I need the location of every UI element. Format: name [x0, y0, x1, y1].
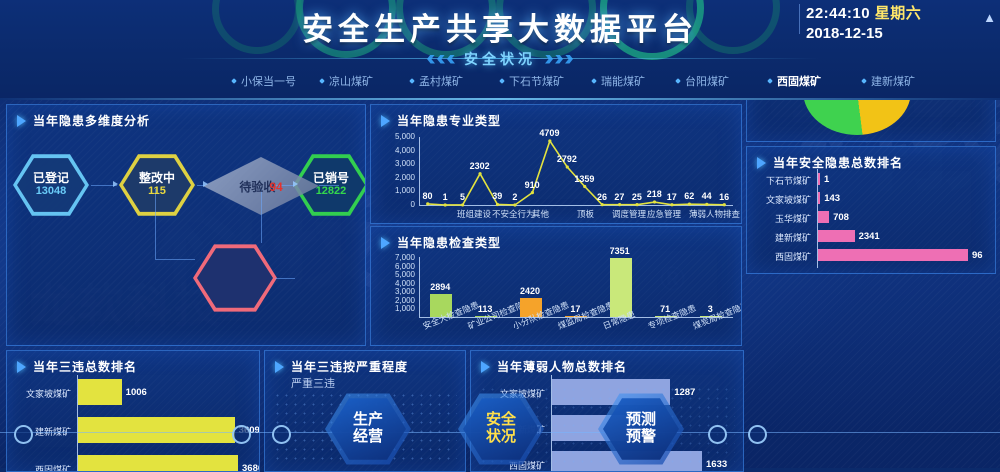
panel-hidden-danger-multidim: 当年隐患多维度分析 已登记13048整改中115已销号12822待验收94 [6, 104, 366, 346]
category-label: 西固煤矿 [7, 463, 71, 472]
flow-connector [261, 189, 262, 243]
tab-label: 西固煤矿 [777, 73, 821, 89]
y-axis-line [419, 257, 420, 317]
tab-5[interactable]: 台阳煤矿 [676, 73, 729, 89]
chevron-right-decor-icon [545, 55, 573, 64]
x-axis-category: 应急管理 [647, 208, 681, 220]
data-label: 62 [684, 191, 694, 201]
category-label: 玉华煤矿 [747, 212, 811, 225]
clock-weekday: 星期六 [875, 5, 922, 22]
data-label: 2894 [430, 282, 450, 292]
rail-node-dot[interactable] [748, 425, 767, 444]
y-axis-tick: 1,000 [373, 304, 415, 313]
overlay-node-safety-status[interactable]: 安全 状况 [458, 392, 544, 466]
clock-widget: 22:44:10 星期六 2018-12-15 [806, 2, 982, 44]
overlay-node-forecast-warning[interactable]: 预测 预警 [598, 392, 684, 466]
tab-bullet-icon [231, 78, 237, 84]
overlay-node-line2: 预警 [626, 429, 656, 446]
data-label: 27 [614, 192, 624, 202]
bar[interactable] [78, 455, 238, 472]
clock-date: 2018-12-15 [806, 25, 982, 42]
panel-title-row: 当年隐患检查类型 [381, 234, 501, 251]
tab-bullet-icon [499, 78, 505, 84]
flow-node-已登记[interactable]: 已登记13048 [13, 153, 89, 217]
data-label: 1359 [574, 174, 594, 184]
data-label: 7351 [610, 246, 630, 256]
tab-label: 台阳煤矿 [685, 73, 729, 89]
arrow-right-icon [381, 237, 390, 249]
flow-arrow-icon [293, 181, 298, 187]
x-axis-category: 班组建设 [457, 208, 491, 220]
flow-connector [275, 278, 295, 279]
panel-title: 当年隐患检查类型 [397, 234, 501, 251]
tab-0[interactable]: 小保当一号 [232, 73, 296, 89]
data-label: 17 [667, 192, 677, 202]
bar[interactable] [818, 173, 820, 185]
bar[interactable] [818, 249, 968, 261]
tab-2[interactable]: 孟村煤矿 [410, 73, 463, 89]
header-subtitle-row: 安全状况 [0, 48, 1000, 70]
flow-connector [155, 259, 195, 260]
flow-arrow-icon [113, 181, 118, 187]
hbar-chart-violation-ranking: 文家坡煤矿1006建新煤矿3609西固煤矿3686 [7, 375, 259, 471]
arrow-right-icon [757, 157, 766, 169]
tab-bullet-icon [591, 78, 597, 84]
tab-label: 小保当一号 [241, 73, 296, 89]
x-axis-category: 其他 [532, 208, 549, 220]
overlay-node-production-operation[interactable]: 生产 经营 [325, 392, 411, 466]
arrow-right-icon [17, 361, 26, 373]
value-label: 3686 [242, 463, 260, 472]
overlay-node-line1: 生产 [353, 412, 383, 429]
bar[interactable] [78, 379, 122, 405]
data-label: 39 [492, 191, 502, 201]
bar[interactable] [818, 211, 829, 223]
data-label: 4709 [539, 128, 559, 138]
panel-danger-total-ranking: 当年安全隐患总数排名 下石节煤矿1文家坡煤矿143玉华煤矿708建新煤矿2341… [746, 146, 996, 274]
panel-danger-professional-type: 当年隐患专业类型 5,0004,0003,0002,0001,000080152… [370, 104, 742, 224]
arrow-right-icon [481, 361, 490, 373]
flow-node-value: 94 [269, 180, 282, 194]
arrow-right-icon [381, 115, 390, 127]
flow-node-label: 已销号 [313, 172, 349, 185]
panel-title: 当年隐患多维度分析 [33, 112, 150, 129]
panel-title: 当年三违总数排名 [33, 358, 137, 375]
data-label: 218 [647, 189, 662, 199]
panel-title: 当年三违按严重程度 [291, 358, 408, 375]
bar[interactable] [610, 258, 632, 317]
bar[interactable] [78, 417, 235, 443]
data-label: 80 [423, 191, 433, 201]
panel-danger-inspection-type: 当年隐患检查类型 7,0006,0005,0004,0003,0002,0001… [370, 226, 742, 346]
rail-node-dot[interactable] [14, 425, 33, 444]
tab-label: 孟村煤矿 [419, 73, 463, 89]
tab-label: 凉山煤矿 [329, 73, 373, 89]
panel-subtitle: 严重三违 [291, 375, 335, 391]
category-label: 下石节煤矿 [747, 174, 811, 187]
overlay-node-line1: 安全 [486, 412, 516, 429]
tab-label: 建新煤矿 [871, 73, 915, 89]
data-label: 16 [719, 192, 729, 202]
hbar-chart-danger-ranking: 下石节煤矿1文家坡煤矿143玉华煤矿708建新煤矿2341西固煤矿96 [747, 171, 995, 271]
data-label: 2 [512, 192, 517, 202]
data-label: 2420 [520, 286, 540, 296]
category-label: 西固煤矿 [747, 250, 811, 263]
flow-node-value: 12822 [313, 186, 349, 198]
tab-3[interactable]: 下石节煤矿 [500, 73, 564, 89]
chevron-left-decor-icon [427, 55, 455, 64]
bar[interactable] [818, 192, 820, 204]
bar[interactable] [818, 230, 855, 242]
tab-7[interactable]: 建新煤矿 [862, 73, 915, 89]
data-label: 910 [525, 180, 540, 190]
tab-bullet-icon [409, 78, 415, 84]
value-label: 96 [972, 250, 983, 261]
panel-title-row: 当年薄弱人物总数排名 [481, 358, 627, 375]
tab-label: 瑞能煤矿 [601, 73, 645, 89]
rail-node-dot[interactable] [272, 425, 291, 444]
mine-tab-bar[interactable]: 小保当一号凉山煤矿孟村煤矿下石节煤矿瑞能煤矿台阳煤矿西固煤矿建新煤矿 [0, 70, 1000, 92]
clock-time: 22:44:10 [806, 5, 870, 22]
tab-4[interactable]: 瑞能煤矿 [592, 73, 645, 89]
flow-diagram: 已登记13048整改中115已销号12822待验收94 [7, 131, 365, 345]
data-label: 5 [460, 192, 465, 202]
panel-title-row: 当年三违总数排名 [17, 358, 137, 375]
data-label: 25 [632, 192, 642, 202]
flow-node-value: 13048 [33, 186, 69, 198]
tab-bullet-icon [675, 78, 681, 84]
tab-bullet-icon [319, 78, 325, 84]
header-subtitle: 安全状况 [464, 49, 536, 69]
header-bottom-line [0, 98, 1000, 100]
value-label: 143 [824, 193, 840, 204]
data-label: 26 [597, 192, 607, 202]
chevron-up-icon[interactable]: ▲ [983, 10, 996, 25]
overlay-node-line1: 预测 [626, 412, 656, 429]
panel-title: 当年安全隐患总数排名 [773, 154, 903, 171]
line-series-path [371, 127, 741, 223]
overlay-node-line2: 状况 [486, 429, 516, 446]
x-axis-category: 不安全行为 [492, 208, 535, 220]
tab-1[interactable]: 凉山煤矿 [320, 73, 373, 89]
category-label: 文家坡煤矿 [747, 193, 811, 206]
flow-node-value: 115 [139, 186, 175, 198]
panel-title: 当年隐患专业类型 [397, 112, 501, 129]
category-label: 建新煤矿 [747, 231, 811, 244]
arrow-right-icon [17, 115, 26, 127]
x-axis-category: 煤炭局检查隐患 [691, 299, 742, 332]
flow-node-整改中[interactable]: 整改中115 [119, 153, 195, 217]
flow-node-label: 已登记 [33, 172, 69, 185]
tab-6[interactable]: 西固煤矿 [768, 73, 821, 89]
rail-node-dot[interactable] [232, 425, 251, 444]
panel-title-row: 当年三违按严重程度 [275, 358, 408, 375]
data-label: 1 [443, 192, 448, 202]
data-label: 2792 [557, 154, 577, 164]
tab-bullet-icon [861, 78, 867, 84]
overlay-node-line2: 经营 [353, 429, 383, 446]
tab-bullet-icon [767, 78, 773, 84]
flow-node-extra[interactable] [193, 243, 277, 313]
rail-node-dot[interactable] [708, 425, 727, 444]
value-label: 2341 [859, 231, 880, 242]
panel-violation-total-ranking: 当年三违总数排名 文家坡煤矿1006建新煤矿3609西固煤矿3686 [6, 350, 260, 472]
x-axis-category: 调度管理 [612, 208, 646, 220]
tab-label: 下石节煤矿 [509, 73, 564, 89]
x-axis-category: 薄弱人物排查 [689, 208, 740, 220]
value-label: 1006 [126, 387, 147, 398]
bar-chart-inspection-type: 7,0006,0005,0004,0003,0002,0001,0002894安… [371, 249, 741, 345]
panel-title: 当年薄弱人物总数排名 [497, 358, 627, 375]
x-axis-category: 顶板 [577, 208, 594, 220]
flow-connector [155, 189, 156, 259]
data-label: 2302 [470, 161, 490, 171]
category-label: 文家坡煤矿 [7, 387, 71, 400]
clock-divider [799, 4, 800, 34]
value-label: 1 [824, 174, 829, 185]
line-chart-danger-type: 5,0004,0003,0002,0001,000080152302392910… [371, 127, 741, 223]
panel-title-row: 当年隐患专业类型 [381, 112, 501, 129]
panel-title-row: 当年安全隐患总数排名 [757, 154, 903, 171]
panel-title-row: 当年隐患多维度分析 [17, 112, 150, 129]
value-label: 708 [833, 212, 849, 223]
flow-node-label: 整改中 [139, 172, 175, 185]
data-label: 44 [702, 191, 712, 201]
arrow-right-icon [275, 361, 284, 373]
flow-arrow-icon [203, 181, 208, 187]
